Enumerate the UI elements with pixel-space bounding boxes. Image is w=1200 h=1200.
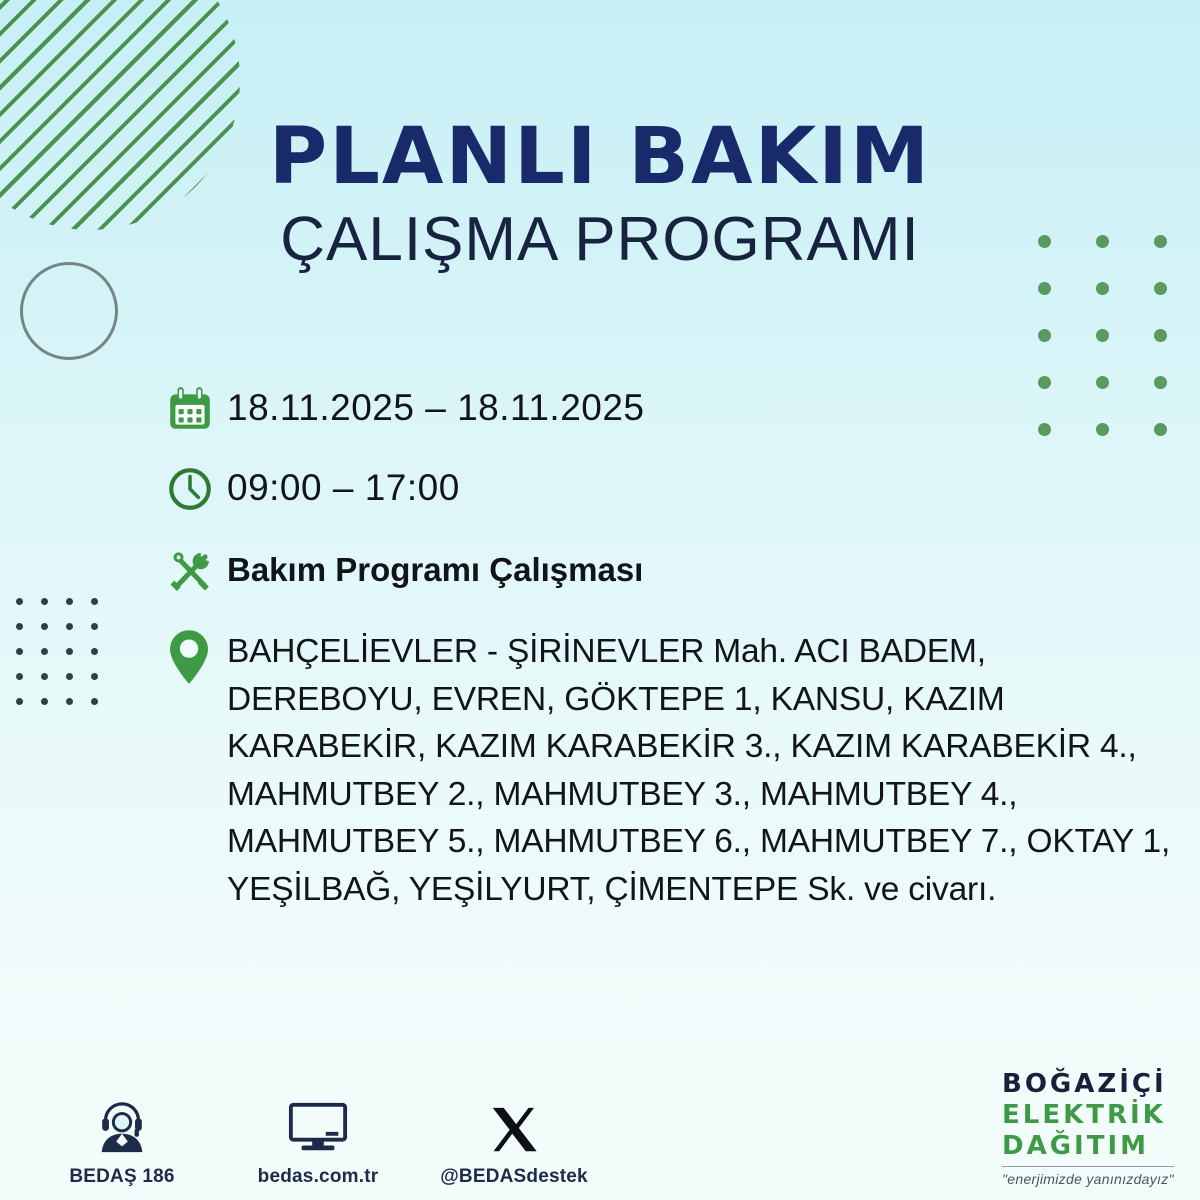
dot [16, 648, 23, 655]
contact-phone[interactable]: BEDAŞ 186 [52, 1095, 192, 1188]
dot [41, 698, 48, 705]
brand-logo: BOĞAZİÇİ ELEKTRİK DAĞITIM "enerjimizde y… [1002, 1071, 1174, 1186]
brand-divider [1002, 1166, 1174, 1167]
contact-website-label: bedas.com.tr [258, 1166, 379, 1188]
location-pin-icon [165, 626, 227, 686]
dot [66, 698, 73, 705]
dot [41, 648, 48, 655]
dot [66, 648, 73, 655]
dot [16, 598, 23, 605]
dot [66, 623, 73, 630]
dot [16, 673, 23, 680]
monitor-icon [287, 1095, 349, 1157]
page-title: PLANLI BAKIM [0, 118, 1200, 198]
work-type-text: Bakım Programı Çalışması [227, 544, 1175, 588]
date-range-text: 18.11.2025 – 18.11.2025 [227, 382, 1175, 429]
outline-circle-decoration [20, 262, 118, 360]
call-center-agent-icon [93, 1095, 151, 1157]
page-subtitle: ÇALIŞMA PROGRAMI [0, 204, 1200, 275]
page-title-block: PLANLI BAKIM ÇALIŞMA PROGRAMI [0, 118, 1200, 275]
dot [66, 673, 73, 680]
footer-contacts: BEDAŞ 186 bedas.com.tr [52, 1095, 584, 1188]
dot [91, 648, 98, 655]
dot [1038, 282, 1051, 295]
brand-line-dagitim: DAĞITIM [1002, 1133, 1174, 1159]
calendar-icon [165, 382, 227, 434]
dot [91, 598, 98, 605]
info-list: 18.11.2025 – 18.11.2025 09:00 – 17:00 [165, 382, 1175, 913]
contact-x-social-label: @BEDASdestek [440, 1166, 588, 1188]
info-row-time: 09:00 – 17:00 [165, 462, 1175, 514]
clock-icon [165, 462, 227, 514]
info-row-date: 18.11.2025 – 18.11.2025 [165, 382, 1175, 434]
dot [1154, 329, 1167, 342]
info-row-work: Bakım Programı Çalışması [165, 544, 1175, 598]
dot [16, 698, 23, 705]
time-range-text: 09:00 – 17:00 [227, 462, 1175, 509]
dot [1038, 329, 1051, 342]
dot [91, 673, 98, 680]
dot [41, 673, 48, 680]
contact-phone-label: BEDAŞ 186 [69, 1166, 174, 1188]
dot [66, 598, 73, 605]
info-row-location: BAHÇELİEVLER - ŞİRİNEVLER Mah. ACI BADEM… [165, 626, 1175, 913]
tools-icon [165, 544, 227, 598]
dot [16, 623, 23, 630]
dot [91, 698, 98, 705]
x-social-icon [487, 1095, 541, 1157]
dot [1096, 329, 1109, 342]
brand-tagline: "enerjimizde yanınızdayız" [1002, 1172, 1174, 1186]
brand-line-bogazici: BOĞAZİÇİ [1002, 1071, 1174, 1097]
contact-x-social[interactable]: @BEDASdestek [444, 1095, 584, 1188]
dot [41, 623, 48, 630]
dot [91, 623, 98, 630]
contact-website[interactable]: bedas.com.tr [248, 1095, 388, 1188]
dot [1096, 282, 1109, 295]
brand-line-elektrik: ELEKTRİK [1002, 1102, 1174, 1128]
poster-root: PLANLI BAKIM ÇALIŞMA PROGRAMI [0, 0, 1200, 1200]
dot [41, 598, 48, 605]
footer: BEDAŞ 186 bedas.com.tr [0, 1040, 1200, 1200]
dot-grid-left-decoration [16, 598, 116, 723]
location-text: BAHÇELİEVLER - ŞİRİNEVLER Mah. ACI BADEM… [227, 626, 1175, 913]
dot [1154, 282, 1167, 295]
